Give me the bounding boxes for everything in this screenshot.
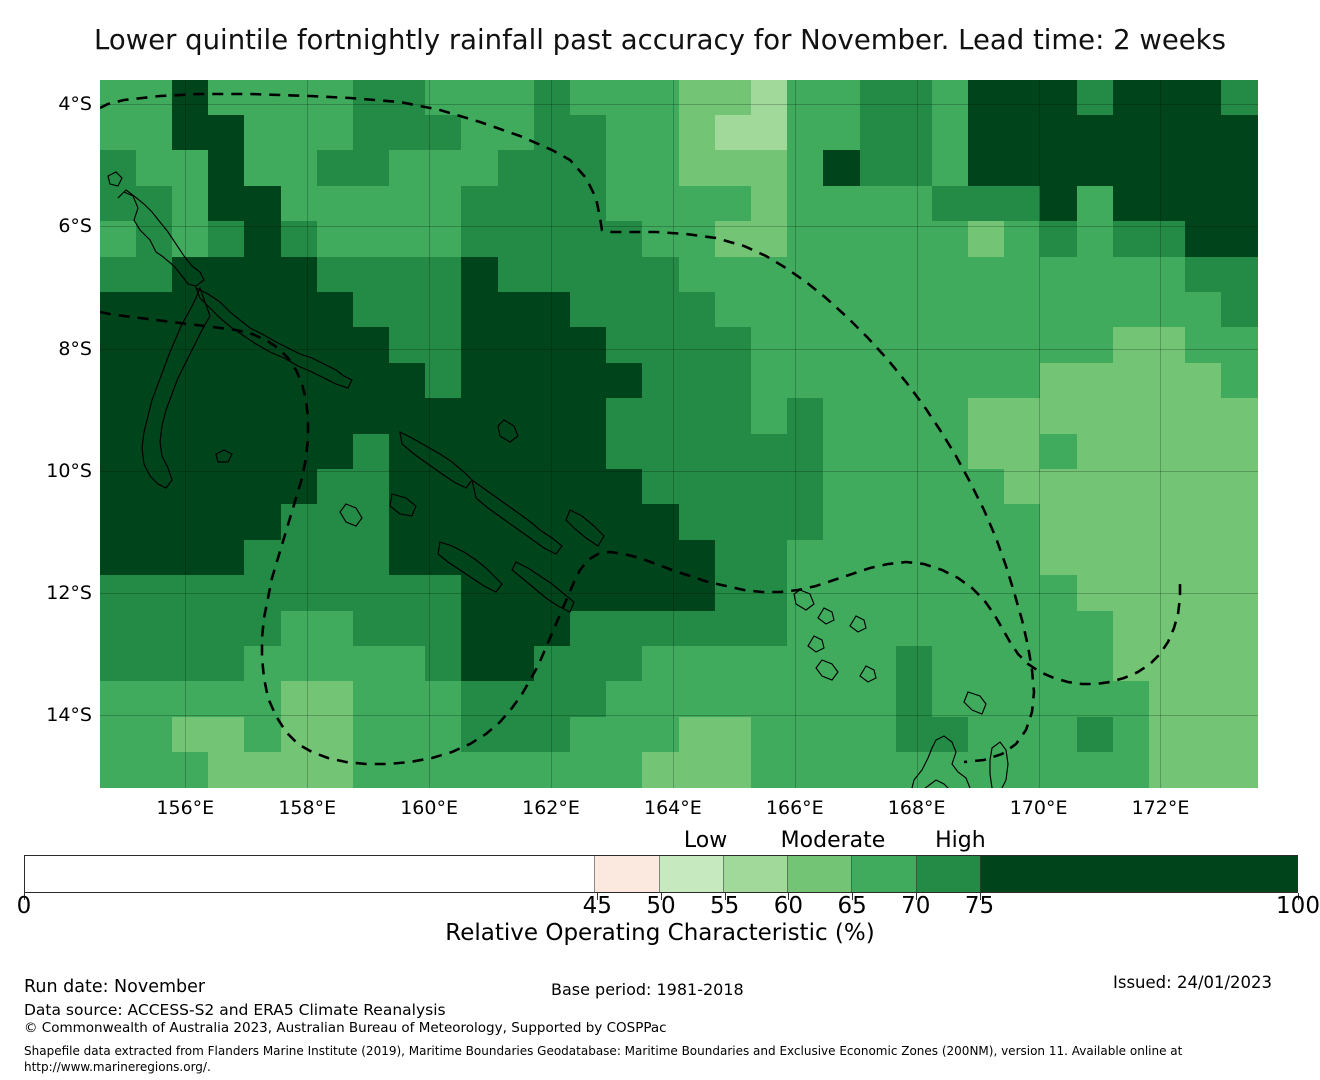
colorbar-category-label: High [935,828,986,853]
latitude-tick-label: 12°S [46,582,92,604]
longitude-tick-label: 156°E [156,797,214,819]
colorbar-tick-label: 75 [965,893,994,919]
eez-boundary [100,94,1180,764]
longitude-tick-label: 164°E [644,797,702,819]
longitude-tick-label: 162°E [522,797,580,819]
colorbar-tick-label: 50 [646,893,675,919]
colorbar-tick-label: 70 [901,893,930,919]
colorbar-tick-label: 65 [837,893,866,919]
latitude-tick-label: 4°S [58,93,92,115]
footer-base-period: Base period: 1981-2018 [551,980,744,999]
longitude-tick-label: 172°E [1132,797,1190,819]
page-title: Lower quintile fortnightly rainfall past… [94,27,1226,55]
latitude-tick-label: 14°S [46,704,92,726]
colorbar-band [659,856,723,892]
latitude-tick-label: 10°S [46,460,92,482]
colorbar-band [851,856,915,892]
footer-run-date: Run date: November [24,977,205,997]
footer-copyright: © Commonwealth of Australia 2023, Austra… [24,1020,667,1036]
longitude-tick-label: 158°E [278,797,336,819]
colorbar-tick-label: 100 [1276,893,1320,919]
map-vector-overlay [100,80,1258,788]
colorbar-tick-label: 0 [17,893,32,919]
colorbar-band [787,856,851,892]
footer-shapefile-line2: http://www.marineregions.org/. [24,1060,211,1074]
colorbar-band [25,856,594,892]
colorbar-title: Relative Operating Characteristic (%) [445,920,874,946]
coastlines [108,172,1008,788]
colorbar-band [594,856,658,892]
colorbar-tick-label: 45 [583,893,612,919]
footer-issued-date: Issued: 24/01/2023 [1113,973,1272,992]
colorbar-category-label: Moderate [781,828,886,853]
colorbar-category-label: Low [684,828,727,853]
latitude-tick-label: 8°S [58,338,92,360]
colorbar [24,855,1298,893]
colorbar-tick-label: 60 [774,893,803,919]
footer-shapefile-line1: Shapefile data extracted from Flanders M… [24,1044,1182,1058]
colorbar-band [916,856,980,892]
heatmap-plot [100,80,1258,788]
colorbar-tick-label: 55 [710,893,739,919]
colorbar-band [723,856,787,892]
longitude-tick-label: 166°E [766,797,824,819]
latitude-tick-label: 6°S [58,215,92,237]
longitude-tick-label: 170°E [1010,797,1068,819]
footer-data-source: Data source: ACCESS-S2 and ERA5 Climate … [24,1001,446,1019]
colorbar-band [980,856,1297,892]
colorbar-bands [24,855,1298,893]
longitude-tick-label: 160°E [400,797,458,819]
longitude-tick-label: 168°E [888,797,946,819]
